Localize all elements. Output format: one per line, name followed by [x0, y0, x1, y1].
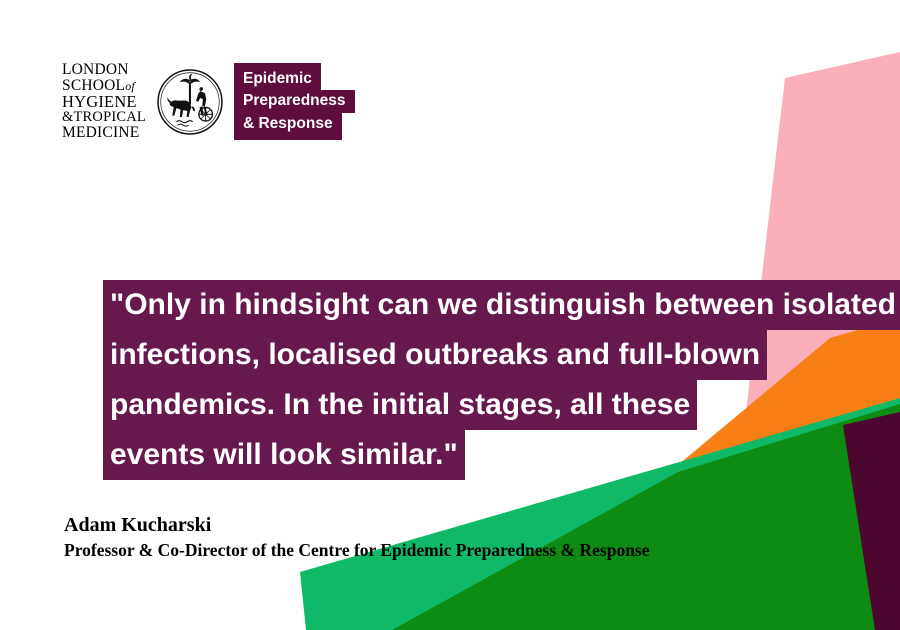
lshtm-crest-icon	[156, 68, 224, 136]
badge-line-response: & Response	[234, 113, 342, 140]
wordmark-of-text: of	[125, 79, 135, 93]
quote-line-3: pandemics. In the initial stages, all th…	[103, 380, 697, 430]
quote-line-4: events will look similar."	[103, 430, 465, 480]
attribution-role: Professor & Co-Director of the Centre fo…	[64, 539, 650, 563]
quote-line-1: "Only in hindsight can we distinguish be…	[103, 280, 900, 330]
quote-block: "Only in hindsight can we distinguish be…	[103, 280, 893, 480]
quote-attribution: Adam Kucharski Professor & Co-Director o…	[64, 512, 650, 563]
wordmark-line-tropical: &TROPICAL	[62, 110, 146, 125]
wordmark-line-london: LONDON	[62, 62, 146, 78]
wordmark-line-hygiene: HYGIENE	[62, 94, 146, 111]
wordmark-line-medicine: MEDICINE	[62, 125, 146, 141]
attribution-name: Adam Kucharski	[64, 512, 650, 539]
quote-line-2: infections, localised outbreaks and full…	[103, 330, 767, 380]
badge-line-epidemic: Epidemic	[234, 63, 321, 90]
lshtm-wordmark: LONDON SCHOOLof HYGIENE &TROPICAL MEDICI…	[62, 62, 152, 141]
badge-line-preparedness: Preparedness	[234, 90, 355, 112]
epidemic-preparedness-response-badge: Epidemic Preparedness & Response	[234, 63, 355, 139]
slide-canvas: LONDON SCHOOLof HYGIENE &TROPICAL MEDICI…	[0, 0, 900, 630]
logo-lockup: LONDON SCHOOLof HYGIENE &TROPICAL MEDICI…	[62, 62, 355, 141]
